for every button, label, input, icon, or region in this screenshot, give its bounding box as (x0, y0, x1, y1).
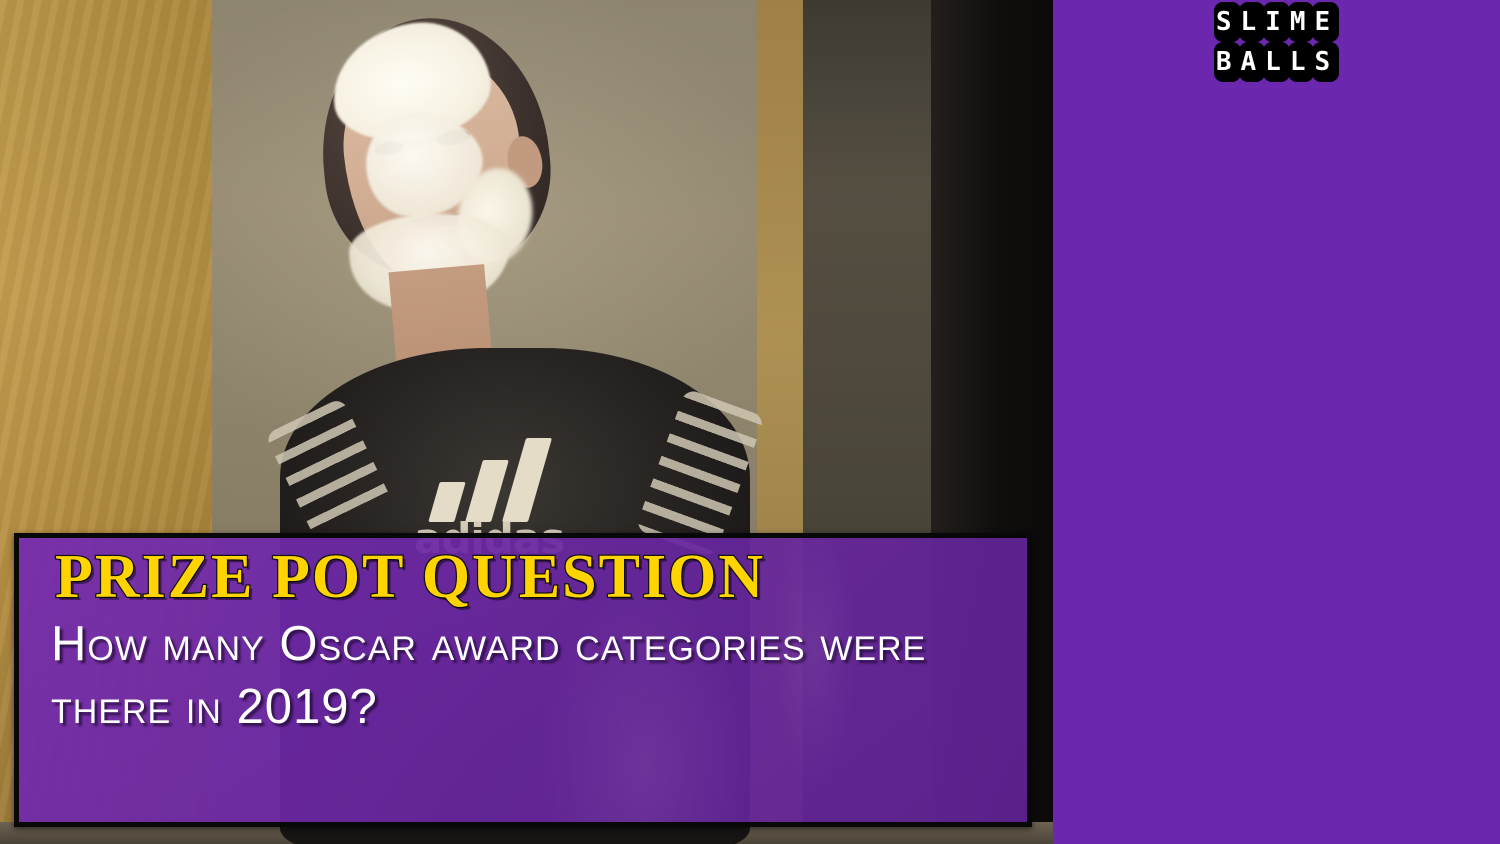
show-title: SLIME BALLS (1053, 2, 1500, 82)
question-banner-text: How many Oscar award categories were the… (51, 613, 1005, 738)
question-banner-title: PRIZE POT QUESTION (55, 546, 1005, 609)
info-side-panel: SLIME BALLS Q Prize pot £50 LOSE ANSWER … (1053, 0, 1500, 844)
video-overlay-screen: adidas PRIZE POT QUESTION How many Oscar… (0, 0, 1500, 844)
show-title-line-2: BALLS (1053, 42, 1500, 82)
show-title-line-1: SLIME (1053, 2, 1500, 42)
video-frame[interactable]: adidas PRIZE POT QUESTION How many Oscar… (0, 0, 1053, 844)
adidas-trefoil-bars-icon (430, 430, 580, 522)
prize-pot-question-banner: PRIZE POT QUESTION How many Oscar award … (14, 533, 1032, 827)
